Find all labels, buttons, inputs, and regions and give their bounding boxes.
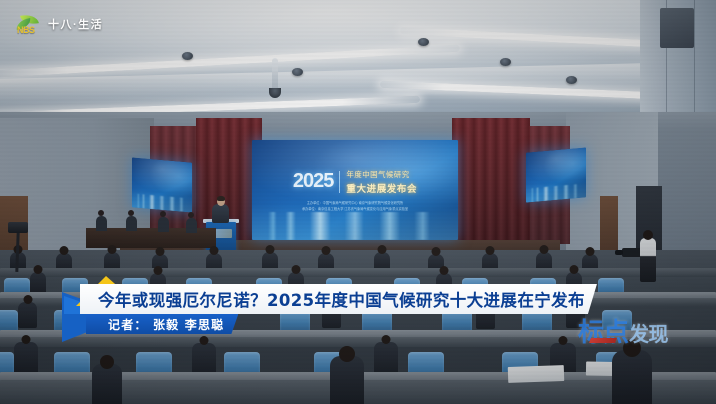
headline-bar: 今年或现强厄尔尼诺？2025年度中国气候研究十大进展在宁发布: [80, 284, 597, 314]
screen-subtitle-line-2: 承办单位：南京信息工程大学 江苏省气象局气候变化与应用气象重点实验室: [302, 207, 408, 212]
foreground-attendee: [612, 350, 652, 404]
screen-year: 2025: [293, 170, 334, 193]
program-watermark: 标点 发现: [578, 312, 668, 349]
panelist: [96, 216, 107, 231]
screen-divider: [339, 171, 340, 193]
video-camera: [622, 248, 642, 257]
screen-title-line-2: 重大进展发布会: [346, 181, 417, 195]
screen-subtitle-line-1: 主办单位：中国气象局气候研究中心 南京气象研究院气候变化研究所: [307, 201, 404, 206]
foreground-attendee: [330, 356, 364, 404]
stage-main-led-screen: 2025 年度中国气候研究 重大进展发布会 主办单位：中国气象局气候研究中心 南…: [252, 140, 458, 240]
ceiling-spotlight: [418, 38, 429, 46]
ceiling-vent: [660, 8, 694, 48]
side-led-screen-right: 2025 年度中国气候研究重大进展发布会: [526, 147, 586, 202]
channel-name: 十八·生活: [48, 16, 103, 32]
speaker-head: [217, 197, 225, 206]
lower-third: 记者： 张毅 李思聪 今年或现强厄尔尼诺？2025年度中国气候研究十大进展在宁发…: [0, 276, 520, 344]
watermark-text-primary: 标点: [578, 312, 628, 349]
panelist-head: [188, 212, 194, 218]
panelist: [126, 216, 137, 231]
watermark-accent-dash: [589, 338, 617, 343]
channel-logo: NBS 十八·生活: [16, 14, 103, 34]
watermark-text-secondary: 发现: [629, 318, 668, 347]
camera-operator: [640, 238, 656, 282]
panelist-head: [98, 210, 104, 216]
panelist-head: [160, 211, 166, 217]
desk-document: [508, 365, 565, 383]
panelist: [158, 217, 169, 232]
reporter-bar: 记者： 张毅 李思聪: [86, 314, 238, 334]
ceiling-spotlight: [182, 52, 193, 60]
screen-title-line-1: 年度中国气候研究: [346, 169, 417, 180]
stage-curtain: [452, 118, 530, 248]
headline-text: 今年或现强厄尔尼诺？2025年度中国气候研究十大进展在宁发布: [98, 287, 585, 311]
foreground-attendee: [92, 364, 122, 404]
ceiling-spotlight: [500, 58, 511, 66]
speaker-person: [212, 204, 229, 223]
ceiling-projector: [272, 58, 278, 92]
side-led-screen-left: 2025 年度中国气候研究重大进展发布会: [132, 157, 192, 212]
ceiling-spotlight: [566, 76, 577, 84]
tripod-camera: [8, 222, 28, 233]
leaf-icon: NBS: [16, 14, 42, 34]
broadcast-frame: 2025 年度中国气候研究 重大进展发布会 主办单位：中国气象局气候研究中心 南…: [0, 0, 716, 404]
panelist-head: [128, 210, 134, 216]
panelist: [186, 218, 197, 233]
reporter-credit: 记者： 张毅 李思聪: [108, 316, 224, 333]
ceiling-spotlight: [292, 68, 303, 76]
channel-logo-mark: NBS: [17, 25, 35, 35]
